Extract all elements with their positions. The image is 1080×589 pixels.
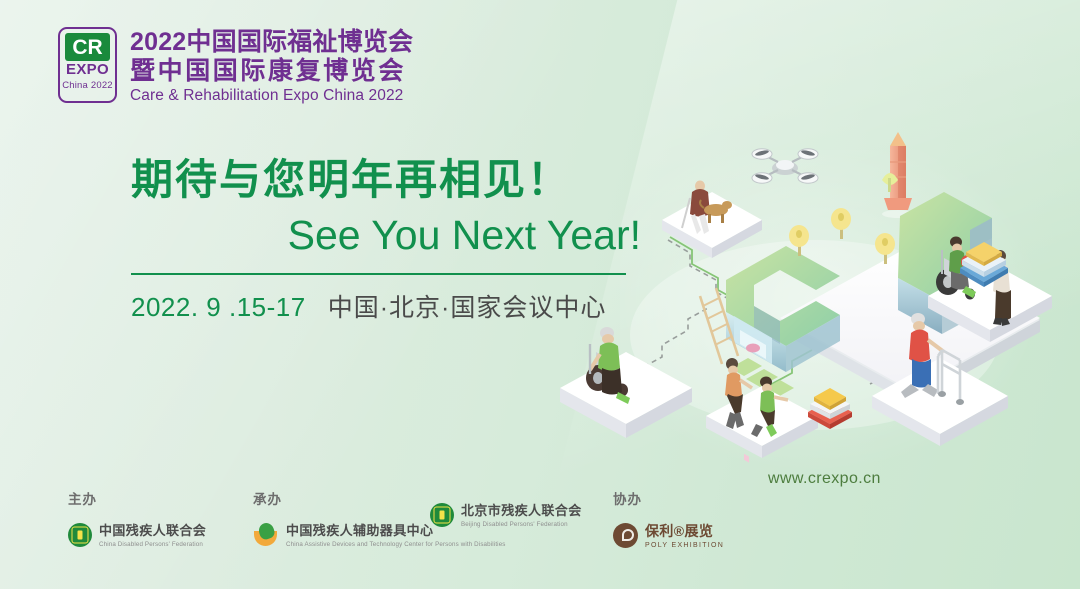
cdpf-flower-emblem-icon: [68, 523, 92, 547]
sponsor-names: 保利®展览 POLY EXHIBITION: [645, 523, 724, 549]
platform-guide-dog: [662, 181, 762, 259]
headline-cn: 期待与您明年再相见！: [131, 156, 651, 203]
logo-expo-text: EXPO: [66, 62, 109, 79]
sponsor-name-en: China Disabled Persons' Federation: [99, 541, 206, 548]
sponsor-name-en: China Assistive Devices and Technology C…: [286, 541, 506, 548]
title-cn-line1: 2022中国国际福祉博览会: [130, 28, 413, 57]
sponsor-logo-row: 北京市残疾人联合会 Beijing Disabled Persons' Fede…: [430, 503, 582, 528]
sponsor-name-en: Beijing Disabled Persons' Federation: [461, 521, 582, 528]
sponsor-logo-row: 中国残疾人联合会 China Disabled Persons' Federat…: [68, 523, 206, 548]
header-title-block: 2022中国国际福祉博览会 暨中国国际康复博览会 Care & Rehabili…: [130, 28, 413, 106]
event-venue: 中国·北京·国家会议中心: [328, 288, 607, 324]
sponsor-names: 北京市残疾人联合会 Beijing Disabled Persons' Fede…: [461, 503, 582, 528]
headline-divider: [131, 273, 626, 275]
sponsor-name-cn: 中国残疾人联合会: [99, 523, 206, 539]
sponsor-names: 中国残疾人联合会 China Disabled Persons' Federat…: [99, 523, 206, 548]
sponsor-footer: 主办 中国残疾人联合会 China Disabled Persons' Fede…: [0, 488, 1080, 568]
sponsor-name-cn: 保利®展览: [645, 523, 724, 540]
logo-cr-badge: CR: [65, 33, 110, 61]
event-date: 2022. 9 .15-17: [131, 292, 306, 323]
logo-cr-text: CR: [72, 37, 102, 58]
title-cn-line2: 暨中国国际康复博览会: [130, 57, 413, 86]
bdpf-flower-emblem-icon: [430, 503, 454, 527]
sponsor-name-en: POLY EXHIBITION: [645, 542, 724, 549]
title-en: Care & Rehabilitation Expo China 2022: [130, 87, 413, 106]
headline-en: See You Next Year!: [131, 212, 651, 259]
sponsor-column-beijing: 北京市残疾人联合会 Beijing Disabled Persons' Fede…: [430, 488, 582, 528]
poster-header: CR EXPO China 2022 2022中国国际福祉博览会 暨中国国际康复…: [58, 27, 413, 106]
sponsor-column-organizer: 主办 中国残疾人联合会 China Disabled Persons' Fede…: [68, 488, 206, 548]
headline-block: 期待与您明年再相见！ See You Next Year! 2022. 9 .1…: [131, 156, 651, 324]
cr-expo-logo: CR EXPO China 2022: [58, 27, 117, 103]
expo-poster: CR EXPO China 2022 2022中国国际福祉博览会 暨中国国际康复…: [0, 0, 1080, 589]
cadtc-crescent-emblem-icon: [253, 523, 279, 547]
sponsor-name-cn: 北京市残疾人联合会: [461, 503, 582, 519]
website-url[interactable]: www.crexpo.cn: [768, 470, 881, 488]
poly-roundel-icon: [613, 523, 638, 548]
drone-shape: [752, 149, 818, 183]
dateline: 2022. 9 .15-17 中国·北京·国家会议中心: [131, 288, 651, 324]
sponsor-role-label: 协办: [613, 488, 724, 508]
sponsor-role-label: 主办: [68, 488, 206, 508]
sponsor-logo-row: 保利®展览 POLY EXHIBITION: [613, 523, 724, 549]
sponsor-column-coorganizer: 协办 保利®展览 POLY EXHIBITION: [613, 488, 724, 549]
logo-china-year-text: China 2022: [62, 81, 113, 91]
